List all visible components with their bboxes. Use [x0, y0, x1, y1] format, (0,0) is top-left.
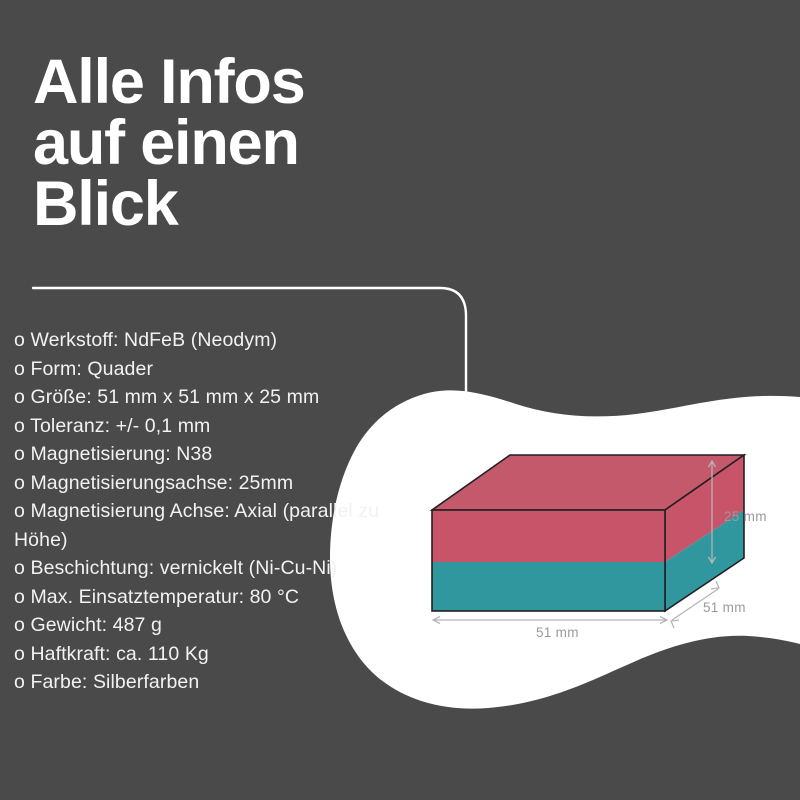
dimension-arrow-width: [433, 617, 667, 624]
list-item: o Gewicht: 487 g: [14, 611, 412, 640]
list-item: o Magnetisierung: N38: [14, 440, 412, 469]
poster-canvas: 25 mm 51 mm 51 mm Alle Infos auf einen B…: [0, 0, 800, 800]
list-item: o Max. Einsatztemperatur: 80 °C: [14, 583, 412, 612]
cuboid-front-face-south: [432, 562, 665, 611]
list-item: o Farbe: Silberfarben: [14, 668, 412, 697]
spec-list: o Werkstoff: NdFeB (Neodym) o Form: Quad…: [14, 326, 412, 697]
list-item: o Beschichtung: vernickelt (Ni-Cu-Ni): [14, 554, 412, 583]
list-item: o Toleranz: +/- 0,1 mm: [14, 412, 412, 441]
dimension-label-depth: 51 mm: [703, 600, 746, 615]
page-title: Alle Infos auf einen Blick: [33, 52, 433, 235]
list-item: o Magnetisierungsachse: 25mm: [14, 469, 412, 498]
list-item: o Haftkraft: ca. 110 Kg: [14, 640, 412, 669]
list-item: o Magnetisierung Achse: Axial (parallel …: [14, 497, 412, 554]
list-item: o Form: Quader: [14, 355, 412, 384]
list-item: o Größe: 51 mm x 51 mm x 25 mm: [14, 383, 412, 412]
list-item: o Werkstoff: NdFeB (Neodym): [14, 326, 412, 355]
cuboid-front-face-north: [432, 510, 665, 562]
dimension-label-width: 51 mm: [536, 625, 579, 640]
dimension-label-height: 25 mm: [724, 509, 767, 524]
